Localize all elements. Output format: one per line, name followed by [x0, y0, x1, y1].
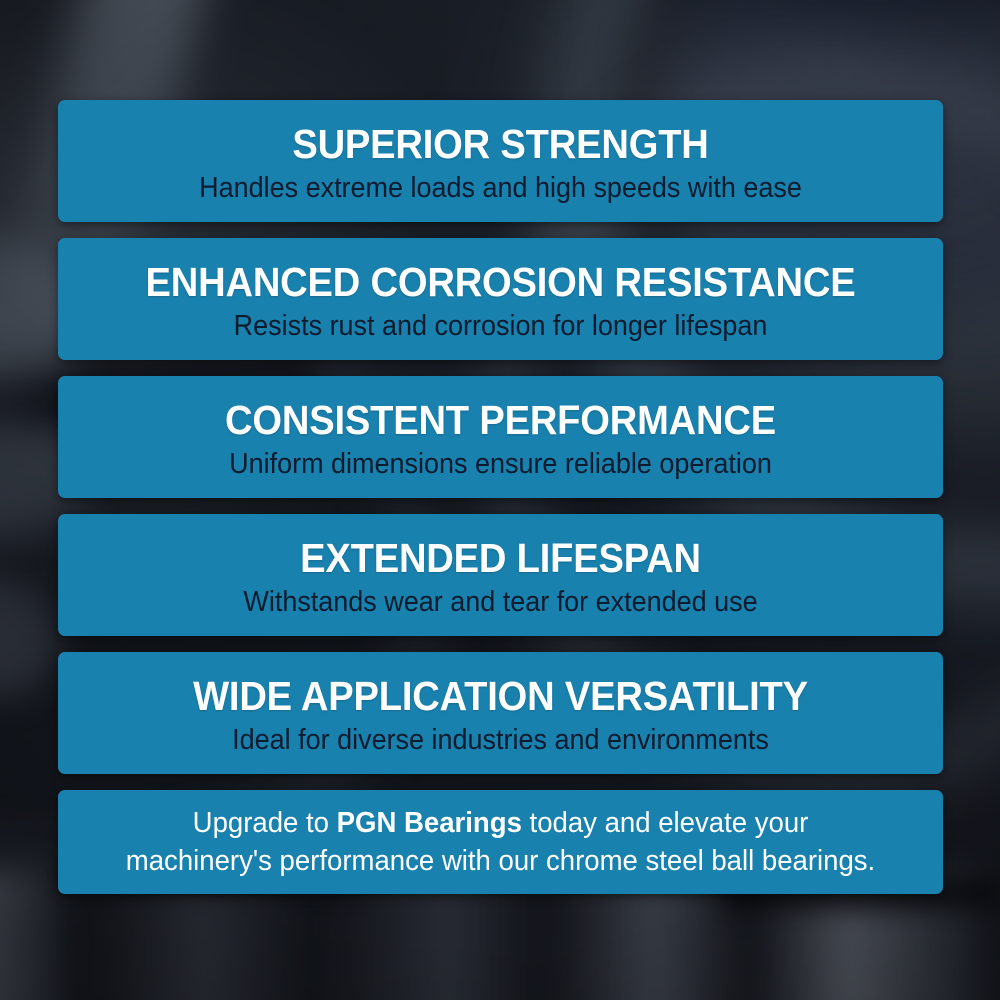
feature-card-stack: SUPERIOR STRENGTH Handles extreme loads …: [58, 100, 943, 894]
feature-subtitle: Uniform dimensions ensure reliable opera…: [111, 446, 889, 482]
feature-title: EXTENDED LIFESPAN: [111, 534, 889, 582]
feature-card-superior-strength: SUPERIOR STRENGTH Handles extreme loads …: [58, 100, 943, 222]
feature-title: ENHANCED CORROSION RESISTANCE: [111, 258, 889, 306]
feature-title: SUPERIOR STRENGTH: [111, 120, 889, 168]
cta-lead-text: Upgrade to: [193, 807, 337, 839]
feature-subtitle: Ideal for diverse industries and environ…: [111, 722, 889, 758]
feature-card-extended-lifespan: EXTENDED LIFESPAN Withstands wear and te…: [58, 514, 943, 636]
feature-subtitle: Resists rust and corrosion for longer li…: [111, 308, 889, 344]
feature-title: WIDE APPLICATION VERSATILITY: [111, 672, 889, 720]
feature-card-enhanced-corrosion-resistance: ENHANCED CORROSION RESISTANCE Resists ru…: [58, 238, 943, 360]
feature-card-consistent-performance: CONSISTENT PERFORMANCE Uniform dimension…: [58, 376, 943, 498]
feature-title: CONSISTENT PERFORMANCE: [111, 396, 889, 444]
feature-subtitle: Withstands wear and tear for extended us…: [111, 584, 889, 620]
feature-subtitle: Handles extreme loads and high speeds wi…: [111, 170, 889, 206]
cta-text: Upgrade to PGN Bearings today and elevat…: [118, 804, 883, 880]
cta-brand-name: PGN Bearings: [337, 807, 522, 839]
feature-card-wide-application-versatility: WIDE APPLICATION VERSATILITY Ideal for d…: [58, 652, 943, 774]
product-feature-poster: SUPERIOR STRENGTH Handles extreme loads …: [0, 0, 1000, 1000]
call-to-action-card: Upgrade to PGN Bearings today and elevat…: [58, 790, 943, 894]
